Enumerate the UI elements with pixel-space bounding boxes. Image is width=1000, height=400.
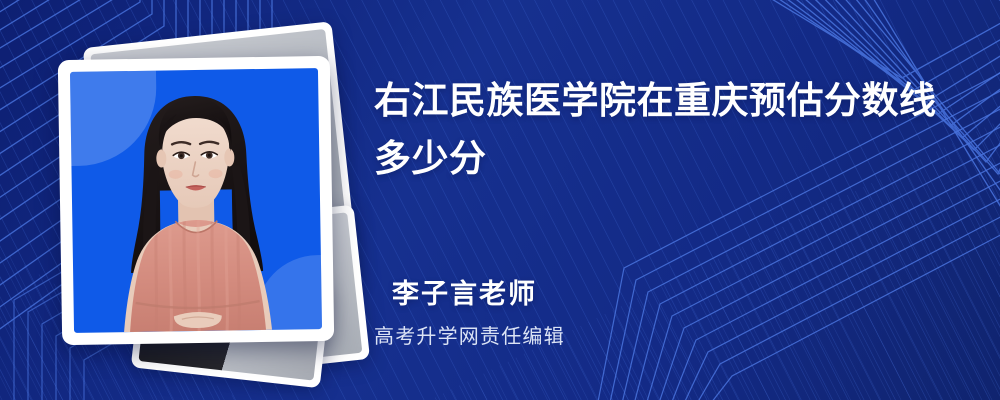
author-portrait-illustration xyxy=(70,68,322,333)
author-photo-card xyxy=(58,56,334,345)
author-role: 高考升学网责任编辑 xyxy=(374,320,565,349)
photo-card-stack xyxy=(58,30,358,370)
page-title: 右江民族医学院在重庆预估分数线多少分 xyxy=(374,72,954,188)
author-photo xyxy=(70,68,322,333)
banner-text-column: 右江民族医学院在重庆预估分数线多少分 李子言老师 高考升学网责任编辑 xyxy=(374,0,974,400)
article-hero-banner: 右江民族医学院在重庆预估分数线多少分 李子言老师 高考升学网责任编辑 xyxy=(0,0,1000,400)
author-name: 李子言老师 xyxy=(392,272,537,311)
